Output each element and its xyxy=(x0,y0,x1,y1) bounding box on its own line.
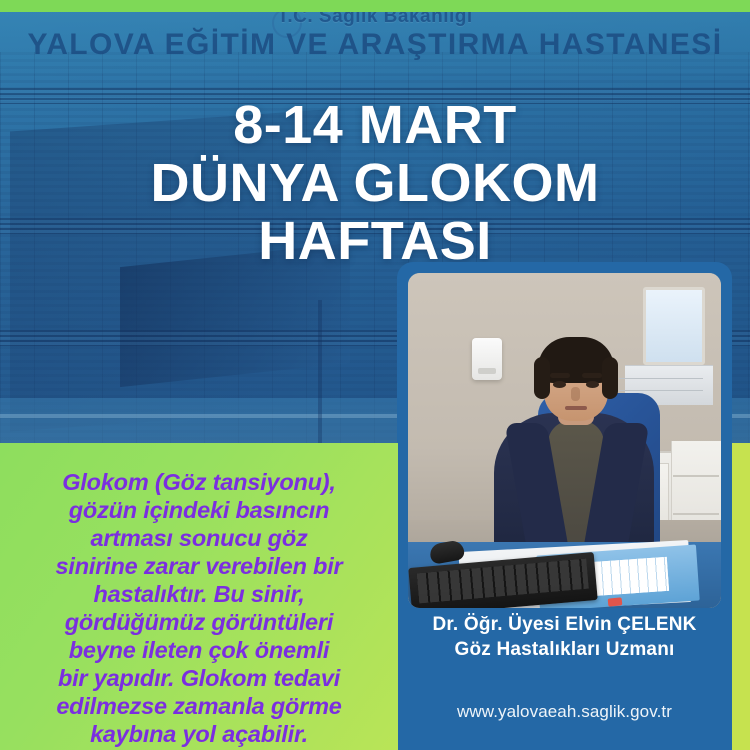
doctor-portrait-photo xyxy=(408,273,721,608)
poster-canvas: T.C. Sağlık Bakanlığı YALOVA EĞİTİM VE A… xyxy=(0,0,750,750)
clinic-window xyxy=(643,287,705,365)
eye-left xyxy=(553,381,566,388)
eyebrow-right xyxy=(582,373,602,378)
info-line-2: gözün içindeki basıncın xyxy=(14,496,384,524)
eye-right xyxy=(586,381,599,388)
eyebrow-left xyxy=(550,373,570,378)
hospital-name: YALOVA EĞİTİM VE ARAŞTIRMA HASTANESİ xyxy=(0,28,750,62)
doctor-panel xyxy=(397,262,732,750)
info-line-8: bir yapıdır. Glokom tedavi xyxy=(14,664,384,692)
doctor-hair-side-left xyxy=(534,357,550,399)
nose xyxy=(571,387,580,401)
lamp-post-1 xyxy=(318,300,322,450)
doctor-specialty: Göz Hastalıkları Uzmanı xyxy=(397,637,732,662)
info-line-10: kaybına yol açabilir. xyxy=(14,720,384,748)
info-box: Glokom (Göz tansiyonu), gözün içindeki b… xyxy=(0,443,398,750)
doctor-name: Dr. Öğr. Üyesi Elvin ÇELENK xyxy=(397,612,732,637)
info-line-6: gördüğümüz görüntüleri xyxy=(14,608,384,636)
info-line-9: edilmezse zamanla görme xyxy=(14,692,384,720)
keyboard-keys xyxy=(417,559,589,604)
doctor-hair-side-right xyxy=(602,357,618,399)
info-box-text: Glokom (Göz tansiyonu), gözün içindeki b… xyxy=(14,468,384,748)
info-line-1: Glokom (Göz tansiyonu), xyxy=(14,468,384,496)
poster-headline: 8-14 MART DÜNYA GLOKOM HAFTASI xyxy=(40,96,710,270)
headline-line-1: 8-14 MART xyxy=(40,96,710,154)
wall-dispenser xyxy=(472,338,502,380)
info-line-5: hastalıktır. Bu sinir, xyxy=(14,580,384,608)
right-green-strip xyxy=(732,443,750,750)
website-url[interactable]: www.yalovaeah.saglik.gov.tr xyxy=(397,702,732,722)
mouth xyxy=(565,406,587,410)
top-green-strip xyxy=(0,0,750,12)
info-line-4: sinirine zarar verebilen bir xyxy=(14,552,384,580)
calendar-red-mark-2 xyxy=(608,597,623,606)
doctor-caption: Dr. Öğr. Üyesi Elvin ÇELENK Göz Hastalık… xyxy=(397,612,732,662)
info-line-7: beyne ileten çok önemli xyxy=(14,636,384,664)
headline-line-2: DÜNYA GLOKOM xyxy=(40,154,710,212)
info-line-3: artması sonucu göz xyxy=(14,524,384,552)
